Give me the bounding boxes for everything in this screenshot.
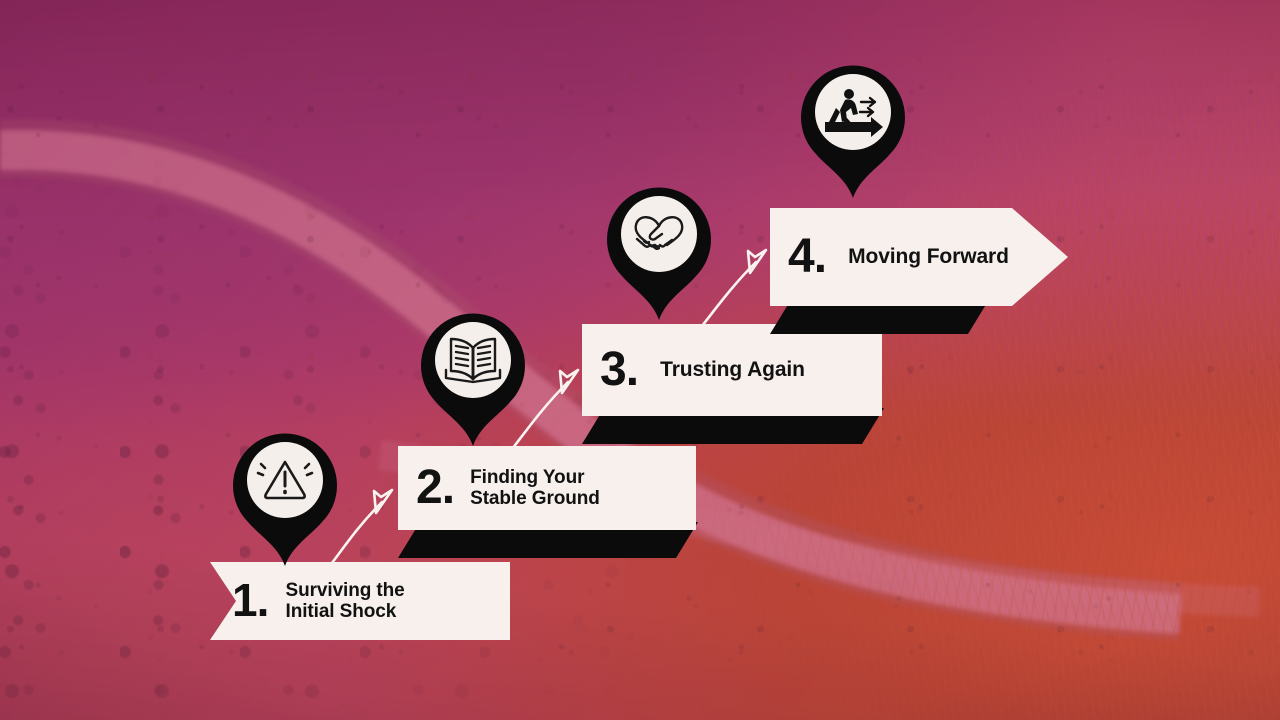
step-3-number: 3. bbox=[600, 350, 638, 389]
person-walking-forward-arrow-icon bbox=[798, 60, 908, 200]
step-2-number: 2. bbox=[416, 468, 454, 507]
step-3-banner[interactable]: 3. Trusting Again bbox=[582, 324, 882, 416]
step-4-banner[interactable]: 4. Moving Forward bbox=[770, 208, 1068, 306]
step-1-banner[interactable]: 1. Surviving the Initial Shock bbox=[210, 562, 510, 640]
step-4: 4. Moving Forward bbox=[770, 208, 1068, 306]
step-4-banner-face: 4. Moving Forward bbox=[770, 208, 1068, 306]
handshake-heart-icon bbox=[604, 182, 714, 322]
step-3-banner-face: 3. Trusting Again bbox=[582, 324, 882, 416]
step-1-pin[interactable] bbox=[230, 428, 340, 568]
step-2-banner[interactable]: 2. Finding Your Stable Ground bbox=[398, 446, 696, 530]
infographic-canvas: 1. Surviving the Initial Shock 2. bbox=[0, 0, 1280, 720]
step-1-banner-face: 1. Surviving the Initial Shock bbox=[210, 562, 510, 640]
step-1-number: 1. bbox=[232, 582, 269, 620]
step-1: 1. Surviving the Initial Shock bbox=[210, 562, 510, 640]
step-3-pin[interactable] bbox=[604, 182, 714, 322]
step-2-pin[interactable] bbox=[418, 308, 528, 448]
step-4-pin[interactable] bbox=[798, 60, 908, 200]
step-2: 2. Finding Your Stable Ground bbox=[398, 446, 696, 530]
step-4-number: 4. bbox=[788, 237, 826, 276]
warning-triangle-icon bbox=[230, 428, 340, 568]
open-book-icon bbox=[418, 308, 528, 448]
step-3-label: Trusting Again bbox=[660, 358, 805, 382]
step-2-label: Finding Your Stable Ground bbox=[470, 467, 600, 510]
step-1-label: Surviving the Initial Shock bbox=[286, 580, 405, 623]
step-3: 3. Trusting Again bbox=[582, 324, 882, 416]
step-2-banner-face: 2. Finding Your Stable Ground bbox=[398, 446, 696, 530]
step-4-label: Moving Forward bbox=[848, 245, 1009, 269]
